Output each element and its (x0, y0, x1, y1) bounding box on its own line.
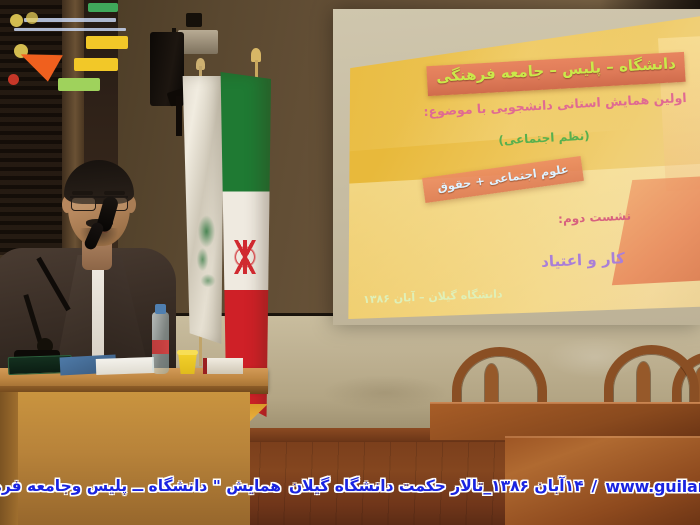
wall-fixture-head (178, 30, 218, 54)
podium-side-panel (0, 392, 20, 525)
university-flag-emblem-icon (190, 205, 220, 293)
wall-fixture-lens-icon (186, 13, 202, 27)
wall-fixture-pole (176, 96, 182, 136)
poster-tag-green-top (88, 3, 118, 12)
screenshot-canvas: دانشگاه – پلیس – جامعه فرهنگی اولین همای… (0, 0, 700, 525)
book (203, 358, 243, 374)
water-bottle-label (152, 340, 169, 354)
poster-tag-1 (86, 36, 128, 49)
iran-emblem-icon (228, 240, 262, 274)
speaker-eyebrow-left (72, 191, 93, 195)
papers-stack (96, 357, 155, 375)
poster-tag-2 (74, 58, 118, 71)
podium-front-panel (18, 392, 250, 525)
poster-subline (14, 28, 126, 31)
poster-seal-red (8, 74, 19, 85)
poster-seal-left (10, 14, 23, 27)
speaker-eyebrow-right (104, 191, 125, 195)
speaker-glasses-lens-left (71, 197, 96, 211)
chair-splat (637, 362, 650, 407)
chair (604, 345, 681, 407)
poster-tag-3 (58, 78, 100, 91)
chair (452, 347, 529, 409)
right-table (505, 436, 700, 525)
poster-seal-mid (26, 12, 38, 24)
water-bottle-cap (155, 304, 166, 314)
front-table (430, 404, 700, 440)
yellow-cup-rim (177, 350, 198, 355)
yellow-cup (178, 352, 197, 374)
